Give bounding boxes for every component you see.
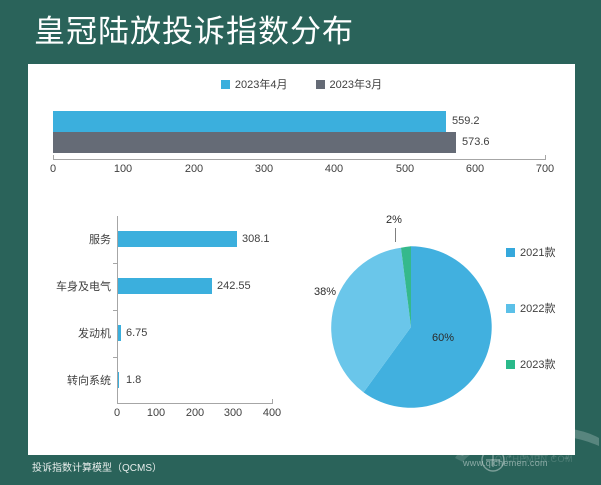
legend-item-2023-04[interactable]: 2023年4月: [221, 76, 288, 92]
x-axis-tick: [272, 399, 273, 403]
bar-value-label-engine: 6.75: [126, 327, 147, 339]
legend-item-2021[interactable]: 2021款: [506, 244, 555, 260]
x-axis-tick-label: 700: [536, 163, 554, 175]
x-axis-tick-label: 0: [50, 163, 56, 175]
legend-label: 2023款: [520, 356, 555, 372]
legend-label: 2023年3月: [330, 76, 383, 92]
legend-label: 2023年4月: [235, 76, 288, 92]
watermark-url: www.qichemen.com: [463, 458, 548, 468]
x-axis-tick-label: 300: [224, 407, 242, 419]
category-label-service: 服务: [28, 231, 111, 247]
bar-value-label-service: 308.1: [242, 233, 270, 245]
pie-label-2023: 2%: [386, 214, 402, 226]
complaint-index-by-category-chart: 服务 308.1 车身及电气 242.55 发动机 6.75 转向系统 1.8 …: [28, 214, 318, 449]
x-axis-tick-label: 500: [396, 163, 414, 175]
pie-label-2021: 60%: [432, 332, 454, 344]
category-label-engine: 发动机: [28, 325, 111, 341]
bar-engine[interactable]: [118, 325, 121, 341]
y-axis-tick: [113, 263, 117, 264]
pie-svg: [326, 242, 496, 412]
watermark-url-upper: QICHEMEN.COM: [495, 454, 573, 464]
bar-body-electrical[interactable]: [118, 278, 212, 294]
category-label-steering: 转向系统: [28, 372, 111, 388]
x-axis-tick: [53, 155, 54, 159]
pie-legend: 2021款 2022款 2023款: [506, 244, 555, 412]
bar-2023-03[interactable]: [53, 132, 456, 153]
legend-swatch-icon: [221, 80, 230, 89]
legend-item-2023-03[interactable]: 2023年3月: [316, 76, 383, 92]
x-axis-tick: [117, 399, 118, 403]
x-axis-tick-label: 0: [114, 407, 120, 419]
bar-value-label-2023-04: 559.2: [452, 115, 480, 127]
x-axis-tick-label: 200: [186, 407, 204, 419]
x-axis-tick-label: 300: [255, 163, 273, 175]
x-axis-tick-label: 400: [263, 407, 281, 419]
bar-steering[interactable]: [118, 372, 119, 388]
y-axis-tick: [113, 357, 117, 358]
x-axis-tick-label: 400: [325, 163, 343, 175]
legend-item-2022[interactable]: 2022款: [506, 300, 555, 316]
legend-swatch-icon: [506, 304, 515, 313]
x-axis-tick-label: 100: [114, 163, 132, 175]
bar-service[interactable]: [118, 231, 237, 247]
footer-note: 投诉指数计算模型（QCMS）: [32, 459, 162, 474]
pie-leader-line: [395, 228, 396, 242]
pie-label-2022: 38%: [314, 286, 336, 298]
x-axis-tick-label: 100: [147, 407, 165, 419]
bar-value-label-steering: 1.8: [126, 374, 141, 386]
x-axis-line: [53, 159, 546, 160]
page-title: 皇冠陆放投诉指数分布: [34, 12, 354, 52]
legend-label: 2022款: [520, 300, 555, 316]
y-axis-tick: [113, 310, 117, 311]
top-chart-legend: 2023年4月 2023年3月: [28, 76, 575, 92]
legend-label: 2021款: [520, 244, 555, 260]
legend-item-2023[interactable]: 2023款: [506, 356, 555, 372]
category-label-body-electrical: 车身及电气: [28, 278, 111, 294]
x-axis-tick-label: 600: [466, 163, 484, 175]
legend-swatch-icon: [506, 360, 515, 369]
x-axis-tick: [545, 155, 546, 159]
x-axis-line: [117, 403, 273, 404]
legend-swatch-icon: [316, 80, 325, 89]
x-axis-tick-label: 200: [185, 163, 203, 175]
slide-root: 皇冠陆放投诉指数分布 2023年4月 2023年3月 559.2 573.6: [0, 0, 601, 480]
chart-panel: 2023年4月 2023年3月 559.2 573.6 0 100 200 30…: [28, 64, 575, 455]
bar-2023-04[interactable]: [53, 111, 446, 132]
legend-swatch-icon: [506, 248, 515, 257]
bar-value-label-2023-03: 573.6: [462, 136, 490, 148]
total-complaint-index-chart: 559.2 573.6 0 100 200 300 400 500 600 70…: [28, 102, 575, 180]
complaints-by-model-year-chart: 60% 38% 2% 2021款 2022款 2023款: [316, 214, 575, 449]
bar-value-label-body-electrical: 242.55: [217, 280, 251, 292]
